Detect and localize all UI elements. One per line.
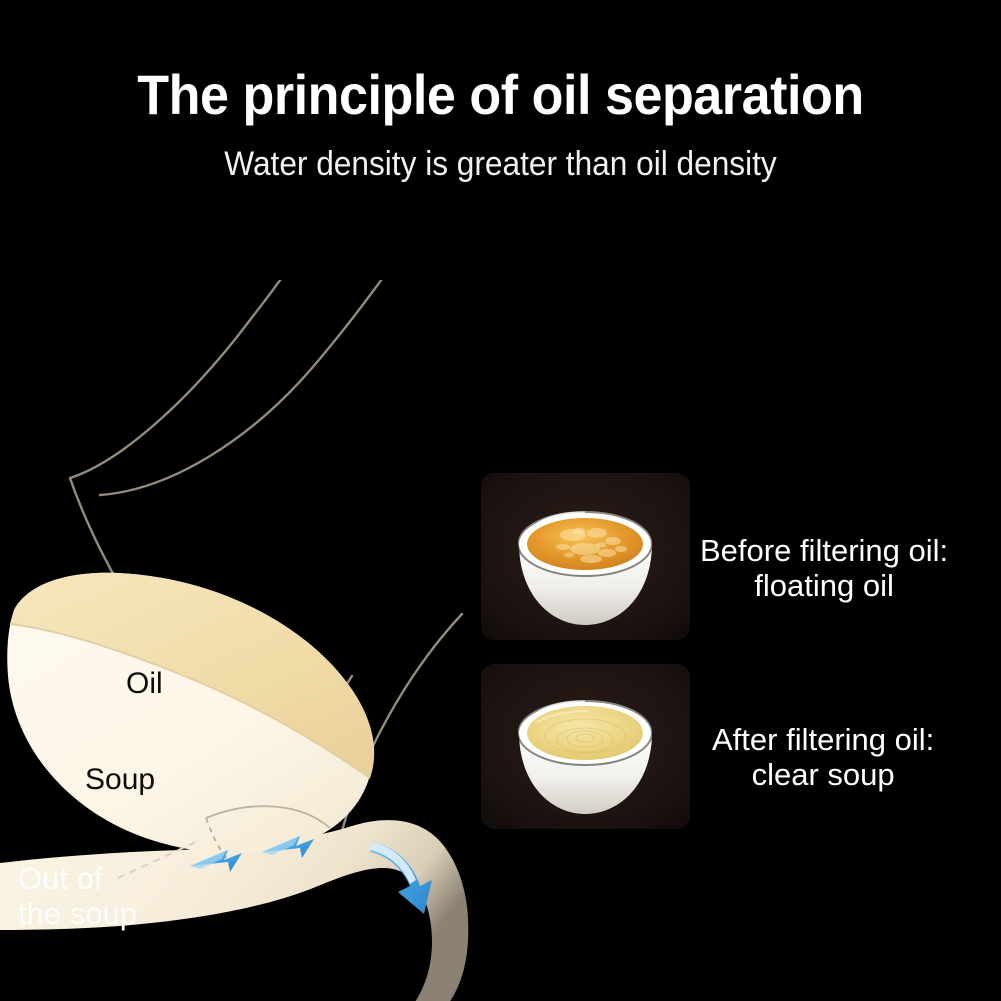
diagram-label-soup: Soup [85, 763, 155, 797]
caption-after-line-1: After filtering oil: [712, 722, 934, 757]
diagram-label-out-of-the-soup: Out of the soup [18, 862, 137, 931]
page-title: The principle of oil separation [35, 66, 966, 125]
poster-root: The principle of oil separation Water de… [0, 0, 1001, 1001]
page-subtitle: Water density is greater than oil densit… [35, 146, 966, 183]
out-of-line-2: the soup [18, 897, 137, 932]
bowl-photo-before [481, 473, 690, 640]
caption-before-line-2: floating oil [700, 568, 948, 603]
caption-after-line-2: clear soup [712, 757, 934, 792]
out-of-line-1: Out of [18, 862, 137, 897]
caption-before-line-1: Before filtering oil: [700, 533, 948, 568]
bowl-photo-after [481, 664, 690, 829]
caption-before-filtering: Before filtering oil: floating oil [700, 533, 948, 604]
caption-after-filtering: After filtering oil: clear soup [712, 722, 934, 793]
photo-tile-after-filtering [481, 664, 690, 829]
diagram-label-oil: Oil [126, 667, 163, 701]
photo-tile-before-filtering [481, 473, 690, 640]
